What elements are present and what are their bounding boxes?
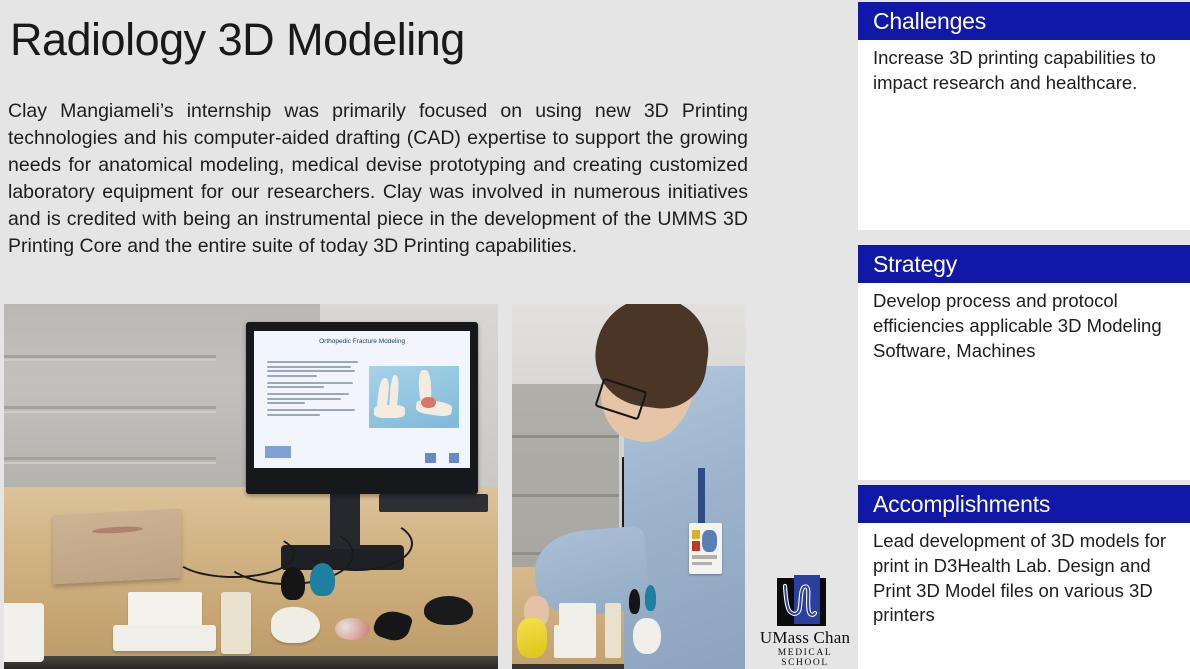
right-panel-column: Challenges Increase 3D printing capabili… — [855, 0, 1190, 669]
panel-strategy-header: Strategy — [858, 245, 1190, 283]
slide-nav-icon — [425, 453, 436, 463]
3d-printed-tray — [128, 592, 202, 629]
3d-printed-tray — [559, 603, 596, 632]
badge-lanyard — [698, 468, 705, 530]
photo-person-at-desk-with-3d-prints — [512, 304, 745, 669]
photo-desk-with-monitor-and-3d-prints: Orthopedic Fracture Modeling — [4, 304, 498, 669]
3d-printed-bone-model — [633, 618, 661, 655]
panel-challenges: Challenges Increase 3D printing capabili… — [858, 2, 1190, 230]
3d-printed-blue-knob — [310, 563, 335, 596]
yellow-object — [517, 618, 547, 658]
3d-printed-cylinder — [605, 603, 621, 658]
photo-row: Orthopedic Fracture Modeling — [0, 304, 760, 669]
3d-printed-bone-model — [271, 607, 320, 644]
anatomy-illustration — [369, 366, 460, 428]
monitor-screen: Orthopedic Fracture Modeling — [254, 331, 470, 468]
slide-canvas: Radiology 3D Modeling Clay Mangiameli’s … — [0, 0, 1190, 669]
panel-challenges-header: Challenges — [858, 2, 1190, 40]
id-badge — [689, 523, 722, 574]
keyboard — [379, 494, 488, 512]
cardboard-box — [53, 509, 181, 585]
computer-mouse — [424, 596, 473, 625]
3d-printed-small-parts — [335, 618, 370, 640]
logo-wordmark: UMass Chan — [753, 628, 857, 648]
panel-accomplishments-header: Accomplishments — [858, 485, 1190, 523]
white-container — [4, 603, 44, 661]
3d-printed-plate — [113, 625, 217, 651]
cable — [300, 516, 413, 571]
page-title: Radiology 3D Modeling — [10, 17, 465, 62]
desk-front-edge — [4, 656, 498, 669]
3d-printed-black-knob — [281, 567, 306, 600]
panel-strategy-body: Develop process and protocol efficiencie… — [858, 283, 1190, 369]
slide-on-screen-title: Orthopedic Fracture Modeling — [271, 338, 452, 345]
logo-u-monogram — [780, 582, 820, 620]
cabinet-seam — [4, 359, 216, 361]
umass-chan-logo: UMass Chan MEDICAL SCHOOL — [753, 576, 857, 666]
3d-printed-cylinder — [221, 592, 251, 654]
panel-accomplishments-body: Lead development of 3D models for print … — [858, 523, 1190, 634]
panel-challenges-body: Increase 3D printing capabilities to imp… — [858, 40, 1190, 102]
cabinet-seam — [4, 411, 216, 413]
3d-printed-blue-knob — [645, 585, 657, 611]
panel-strategy: Strategy Develop process and protocol ef… — [858, 245, 1190, 480]
computer-monitor: Orthopedic Fracture Modeling — [246, 322, 478, 494]
left-content-column: Radiology 3D Modeling Clay Mangiameli’s … — [0, 0, 855, 669]
cabinet-seam — [4, 457, 216, 460]
cabinet-seam — [512, 435, 619, 438]
cabinet-seam — [4, 462, 216, 464]
slide-footer-logo — [265, 446, 291, 458]
cabinet-seam — [4, 355, 216, 358]
panel-accomplishments: Accomplishments Lead development of 3D m… — [858, 485, 1190, 669]
body-paragraph: Clay Mangiameli’s internship was primari… — [8, 98, 748, 261]
cabinet-seam — [512, 494, 619, 497]
cabinet-seam — [4, 406, 216, 409]
logo-subtitle: MEDICAL SCHOOL — [753, 648, 857, 668]
slide-on-screen-bullets — [267, 361, 362, 418]
slide-nav-icon — [449, 453, 460, 463]
box-label — [92, 526, 143, 535]
3d-printed-black-knob — [629, 589, 641, 615]
